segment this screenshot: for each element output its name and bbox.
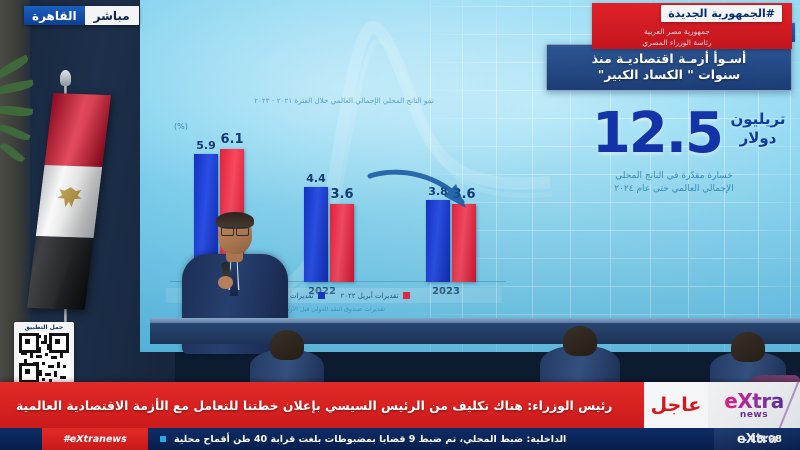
audience-row [150, 330, 800, 390]
eyeglasses-icon [221, 227, 249, 234]
qr-code-image [18, 332, 70, 384]
ticker-text-wrap: الداخلية: ضبط المحلي، تم ضبط 9 قضايا بمض… [160, 428, 714, 450]
breaking-news-label: عاجل [651, 394, 702, 416]
news-ticker: #eXtranews الداخلية: ضبط المحلي، تم ضبط … [0, 428, 800, 450]
ticker-separator-icon [160, 436, 166, 442]
live-label: مباشر [85, 6, 139, 25]
live-city-label: القاهرة [24, 6, 85, 25]
ticker-logo: eXtra [714, 428, 800, 450]
live-location-bug: القاهرة مباشر [24, 6, 139, 25]
flag-finial [60, 70, 71, 86]
channel-logo-secondary: news [740, 410, 768, 420]
headline-text: رئيس الوزراء: هناك تكليف من الرئيس السيس… [10, 382, 640, 428]
org-line-2: رئاسة الوزراء المصري [582, 38, 772, 49]
potted-plant-decor [0, 60, 40, 180]
qr-caption: حمل التطبيق [16, 324, 72, 331]
channel-logo-primary: eXtra [724, 391, 783, 411]
lower-third-banner: رئيس الوزراء: هناك تكليف من الرئيس السيس… [0, 382, 800, 428]
channel-logo: eXtra news [708, 382, 800, 428]
ticker-hashtag: #eXtranews [42, 428, 148, 450]
organization-lines: جمهورية مصر العربية رئاسة الوزراء المصري [582, 27, 772, 49]
new-republic-hashtag: #الجمهورية الجديدة [661, 5, 782, 22]
ticker-logo-text: eXtra [737, 432, 777, 447]
broadcast-frame: نمو الناتج المحلي الإجمالي العالمي خلال … [0, 0, 800, 450]
breaking-news-badge: عاجل [644, 382, 708, 428]
ticker-text: الداخلية: ضبط المحلي، تم ضبط 9 قضايا بمض… [174, 434, 566, 445]
org-line-1: جمهورية مصر العربية [582, 27, 772, 38]
